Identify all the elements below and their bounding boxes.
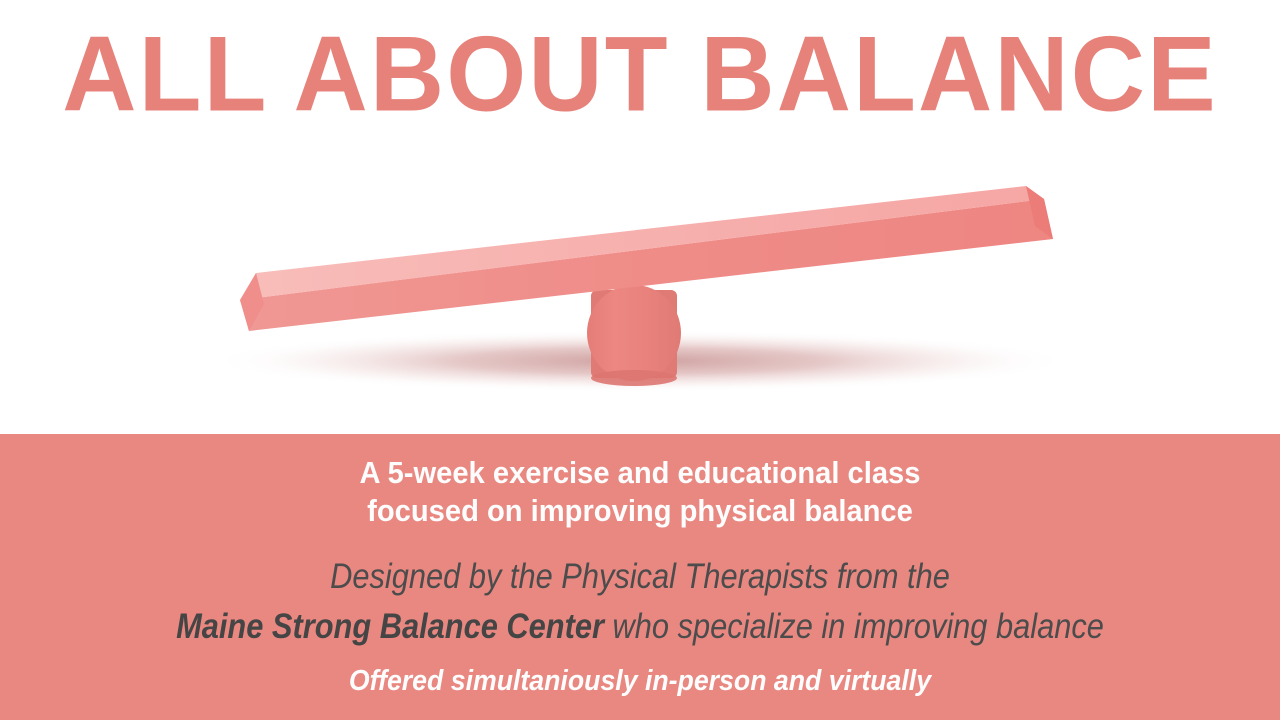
footer-note: Offered simultaniously in-person and vir… (51, 664, 1229, 698)
subtext-line-1: Designed by the Physical Therapists from… (77, 556, 1203, 598)
headline-line-1: A 5-week exercise and educational class (38, 454, 1241, 492)
organization-name: Maine Strong Balance Center (176, 607, 604, 646)
info-band: A 5-week exercise and educational class … (0, 434, 1280, 720)
poster-canvas: ALL ABOUT BALANCE (0, 0, 1280, 720)
subtext-line-2: Maine Strong Balance Center who speciali… (77, 606, 1203, 648)
page-title: ALL ABOUT BALANCE (62, 20, 1218, 127)
headline-line-2: focused on improving physical balance (38, 492, 1241, 530)
subtext-line-2-rest: who specialize in improving balance (604, 607, 1104, 646)
fulcrum (587, 285, 681, 386)
illustration-area (0, 140, 1280, 434)
title-area: ALL ABOUT BALANCE (0, 0, 1280, 140)
seesaw-balance-illustration (0, 140, 1280, 434)
